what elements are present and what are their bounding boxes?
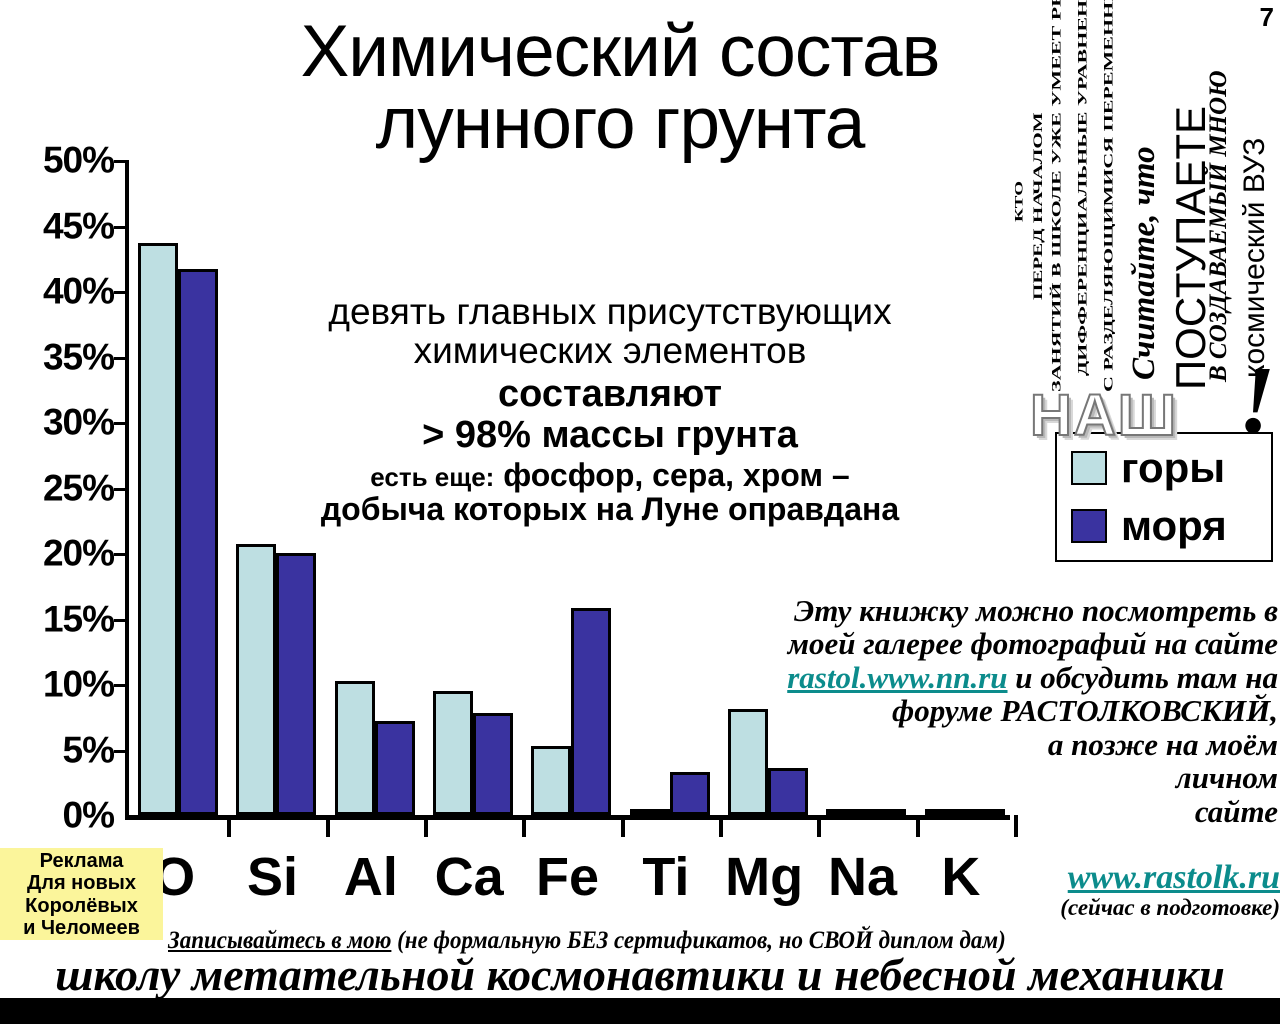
legend-item-morya: моря [1071,505,1271,547]
legend-label-morya: моря [1121,505,1227,547]
x-axis-divider-icon [227,815,231,837]
x-axis-label-Ca: Ca [435,850,504,904]
y-axis-tick-label: 20% [43,535,114,572]
y-axis-tick-icon [114,226,129,229]
slide-canvas: 7 Химический состав лунного грунта 0%5%1… [0,0,1280,1024]
y-axis-tick-label: 15% [43,600,114,637]
bar-group [129,160,227,815]
y-axis-tick-label: 30% [43,404,114,441]
vertical-text-kto: КТО [1014,181,1025,222]
y-axis-tick-icon [114,291,129,294]
x-axis-divider-icon [621,815,625,837]
y-axis-tick-label: 35% [43,338,114,375]
page-number: 7 [1260,2,1274,33]
vertical-text-v-sozdavaemyy: В СОЗДАВАЕМЫЙ МНОЮ [1206,71,1231,383]
body-line-4: > 98% массы грунта [215,415,1005,455]
advert-box: Реклама Для новых Королёвых и Челомеев [0,848,163,940]
page-title: Химический состав лунного грунта [205,16,1035,159]
y-axis-tick-icon [114,488,129,491]
vertical-text-razdelyayushchimisya: С РАЗДЕЛЯЮЩИМИСЯ ПЕРЕМЕННЫМИ [1102,0,1115,392]
right-para-line-6: личном [672,761,1278,794]
body-line-3: составляют [215,374,1005,414]
advert-line-2: Для новых [0,872,163,894]
vertical-text-kosmicheskiy-vuz: космический ВУЗ [1240,138,1270,378]
bar-Ca-моря [473,713,513,815]
legend-swatch-icon-morya [1071,509,1107,543]
x-axis-label-Mg: Mg [725,850,803,904]
right-para-line-7: сайте [672,795,1278,828]
y-axis-tick-label: 10% [43,666,114,703]
x-axis-divider-icon [522,815,526,837]
site-status-note: (сейчас в подготовке) [980,896,1280,920]
bar-Ca-горы [433,691,473,815]
body-line-6: добыча которых на Луне оправдана [215,493,1005,527]
x-axis-label-Al: Al [344,850,398,904]
vertical-text-schitayte: Считайте, что [1128,146,1161,380]
body-line-5: есть еще: фосфор, сера, хром – [215,459,1005,493]
advert-line-4: и Челомеев [0,917,163,939]
body-line-2: химических элементов [215,331,1005,370]
y-axis-tick-icon [114,553,129,556]
x-axis-label-Na: Na [828,850,897,904]
right-para-line-2: моей галерее фотографий на сайте [672,627,1278,660]
y-axis-tick-label: 40% [43,273,114,310]
bar-Si-горы [236,544,276,815]
x-axis-label-Fe: Fe [536,850,599,904]
body-line-5-prefix: есть еще: [370,462,494,492]
right-para-line-5: а позже на моём [672,728,1278,761]
gallery-link[interactable]: rastol.www.nn.ru [787,660,1007,695]
bar-Fe-горы [531,746,571,815]
y-axis-tick-label: 5% [63,731,114,768]
bar-Al-горы [335,681,375,815]
y-axis-tick-label: 50% [43,142,114,179]
bar-O-горы [138,243,178,815]
x-axis-divider-icon [424,815,428,837]
legend-swatch-icon-gory [1071,451,1107,485]
y-axis-tick-label: 0% [63,797,114,834]
right-para-line-3: rastol.www.nn.ru и обсудить там на [672,661,1278,694]
right-paragraph: Эту книжку можно посмотреть в моей галер… [672,594,1278,828]
y-axis-tick-icon [114,619,129,622]
bottom-black-bar [0,998,1280,1024]
exclamation-mark: ! [1238,352,1275,448]
bar-Si-моря [276,553,316,815]
advert-line-1: Реклама [0,850,163,872]
x-axis-label-Ti: Ti [642,850,689,904]
right-para-line-4: форуме РАСТОЛКОВСКИЙ, [672,694,1278,727]
x-axis-label-Si: Si [247,850,298,904]
legend-label-gory: горы [1121,447,1225,489]
bar-Fe-моря [571,608,611,815]
y-axis-tick-label: 45% [43,207,114,244]
y-axis-tick-icon [114,357,129,360]
right-para-line-3-rest: и обсудить там на [1008,660,1278,695]
vertical-text-pered-nachalom: ПЕРЕД НАЧАЛОМ [1032,112,1044,300]
right-para-line-1: Эту книжку можно посмотреть в [672,594,1278,627]
bottom-line-2: школу метательной космонавтики и небесно… [0,952,1280,998]
body-line-5-main: фосфор, сера, хром – [503,457,850,493]
y-axis-tick-icon [114,750,129,753]
vertical-text-zanyatiy: ЗАНЯТИЙ В ШКОЛЕ УЖЕ УМЕЕТ РЕШАТЬ [1050,0,1063,392]
body-line-1: девять главных присутствующих [215,292,1005,331]
vertical-text-differencialnye: ДИФФЕРЕНЦИАЛЬНЫЕ УРАВНЕНИЯ [1076,0,1089,376]
site-link-box: www.rastolk.ru (сейчас в подготовке) [980,860,1280,920]
bar-O-моря [178,269,218,815]
x-axis-labels: OSiAlCaFeTiMgNaK [125,850,1010,910]
y-axis-tick-label: 25% [43,469,114,506]
x-axis-divider-icon [326,815,330,837]
y-axis-tick-icon [114,422,129,425]
legend-item-gory: горы [1071,447,1271,489]
y-axis-tick-icon [114,684,129,687]
x-axis-label-K: K [941,850,980,904]
advert-line-3: Королёвых [0,895,163,917]
y-axis-labels: 0%5%10%15%20%25%30%35%40%45%50% [0,150,118,822]
body-text-block: девять главных присутствующих химических… [215,292,1005,527]
y-axis-tick-icon [114,160,129,163]
bar-Ti-горы [630,809,670,815]
bar-Al-моря [375,721,415,815]
nash-word: НАШ [1030,382,1178,449]
personal-site-link[interactable]: www.rastolk.ru [980,860,1280,896]
